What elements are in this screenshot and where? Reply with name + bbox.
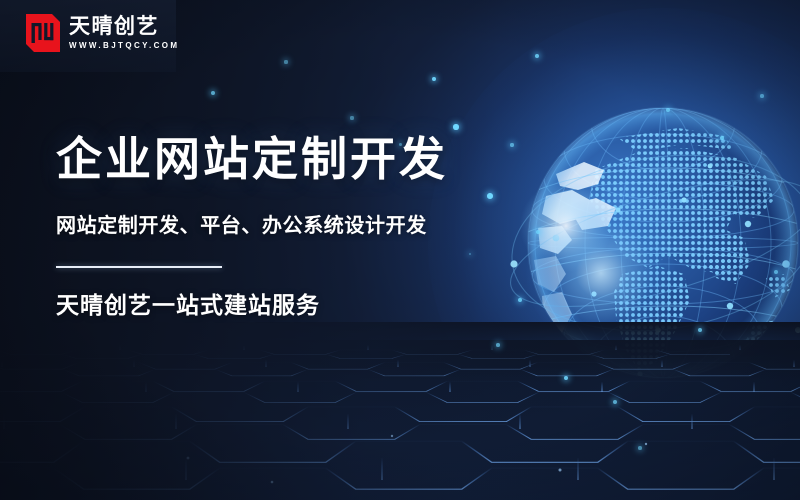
particle-dot (350, 116, 353, 119)
particle-dot (432, 77, 437, 82)
particle-dot (666, 108, 670, 112)
particle-dot (760, 94, 764, 98)
page-title: 企业网站定制开发 (56, 132, 526, 188)
particle-dot (774, 270, 778, 274)
particle-dot (564, 376, 569, 381)
particle-dot (453, 124, 458, 129)
logo-text: 天晴创艺 WWW.BJTQCY.COM (69, 15, 179, 52)
promo-banner: 天晴创艺 WWW.BJTQCY.COM 企业网站定制开发 网站定制开发、平台、办… (0, 0, 800, 500)
logo-website-url: WWW.BJTQCY.COM (69, 40, 179, 52)
banner-copy: 企业网站定制开发 网站定制开发、平台、办公系统设计开发 天晴创艺一站式建站服务 (56, 132, 526, 320)
particle-dot (638, 446, 642, 450)
particle-dot (613, 400, 617, 404)
particle-dot (720, 136, 725, 141)
particle-dot (536, 230, 540, 234)
particle-dot (535, 54, 539, 58)
divider (56, 266, 222, 268)
particle-dot (211, 91, 215, 95)
site-logo[interactable]: 天晴创艺 WWW.BJTQCY.COM (26, 14, 179, 52)
particle-dot (698, 328, 702, 332)
particle-dot (284, 60, 287, 63)
particle-dot (496, 343, 500, 347)
logo-company-name: 天晴创艺 (69, 15, 179, 38)
tagline: 天晴创艺一站式建站服务 (56, 290, 526, 320)
tianqing-chuangyi-logo-mark (26, 14, 60, 52)
subheadline: 网站定制开发、平台、办公系统设计开发 (56, 212, 526, 240)
